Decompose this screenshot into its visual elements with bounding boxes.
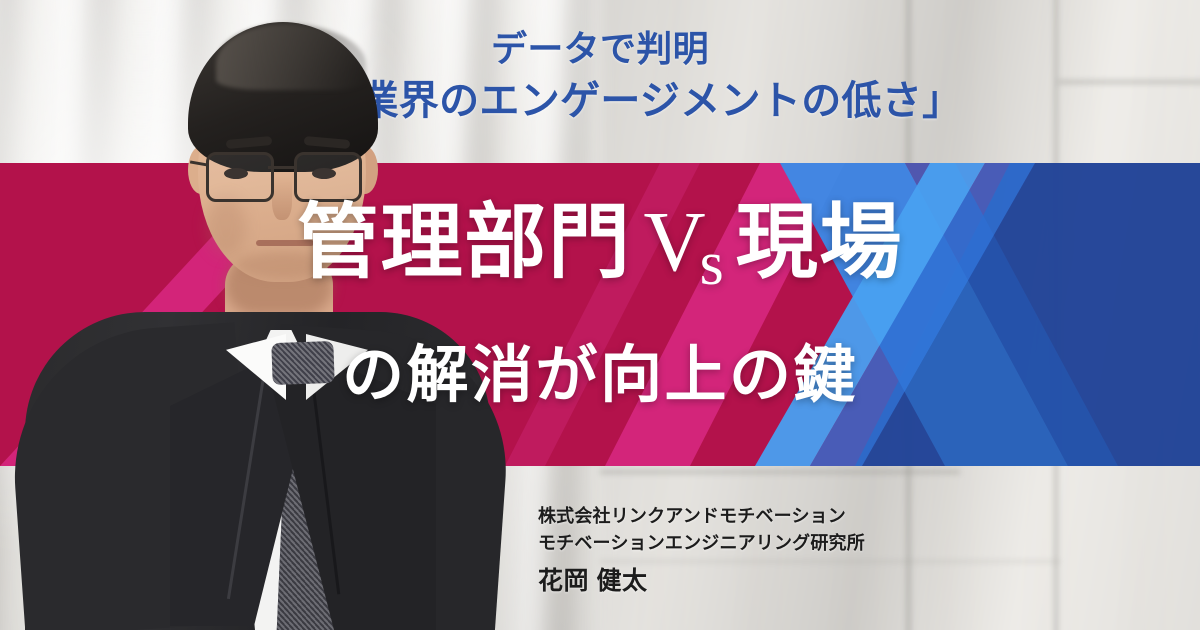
versus-s: s: [700, 232, 724, 298]
speaker-credit: 株式会社リンクアンドモチベーション モチベーションエンジニアリング研究所 花岡 …: [538, 503, 865, 600]
credit-name: 花岡 健太: [538, 562, 865, 600]
glasses-lens-left: [206, 152, 274, 202]
versus-mark: Vs: [644, 193, 724, 289]
portrait-hair-highlight: [216, 24, 366, 90]
headline-left-term: 管理部門: [297, 197, 632, 288]
glasses-lens-right: [294, 152, 362, 202]
headline: 管理部門Vs現場 の解消が向上の鍵: [0, 196, 1200, 414]
versus-v: V: [644, 193, 706, 289]
credit-company: 株式会社リンクアンドモチベーション: [538, 503, 865, 530]
glasses-bridge: [268, 166, 296, 169]
credit-division: モチベーションエンジニアリング研究所: [538, 530, 865, 557]
headline-line-1: 管理部門Vs現場: [0, 196, 1200, 298]
title-card: データで判明 「製造業界のエンゲージメントの低さ」: [0, 0, 1200, 630]
headline-line-2: の解消が向上の鍵: [0, 324, 1200, 414]
wall-seam: [600, 470, 960, 474]
headline-right-term: 現場: [736, 197, 903, 288]
